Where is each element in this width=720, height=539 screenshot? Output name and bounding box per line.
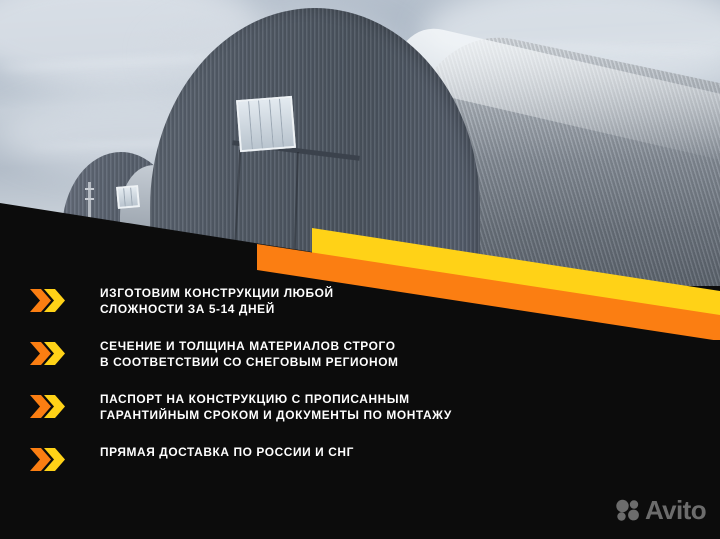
- list-item: ИЗГОТОВИМ КОНСТРУКЦИИ ЛЮБОЙ СЛОЖНОСТИ ЗА…: [30, 286, 650, 317]
- feature-label: СЕЧЕНИЕ И ТОЛЩИНА МАТЕРИАЛОВ СТРОГО В СО…: [100, 339, 399, 370]
- list-item: ПРЯМАЯ ДОСТАВКА ПО РОССИИ И СНГ: [30, 445, 650, 471]
- promo-banner: ИЗГОТОВИМ КОНСТРУКЦИИ ЛЮБОЙ СЛОЖНОСТИ ЗА…: [0, 0, 720, 539]
- feature-label: ИЗГОТОВИМ КОНСТРУКЦИИ ЛЮБОЙ СЛОЖНОСТИ ЗА…: [100, 286, 334, 317]
- feature-label: ПРЯМАЯ ДОСТАВКА ПО РОССИИ И СНГ: [100, 445, 354, 461]
- list-item: ПАСПОРТ НА КОНСТРУКЦИЮ С ПРОПИСАННЫМ ГАР…: [30, 392, 650, 423]
- double-chevron-icon: [30, 395, 66, 418]
- double-chevron-icon: [30, 342, 66, 365]
- avito-dots-icon: [615, 499, 641, 521]
- secondary-hangar-window: [116, 185, 140, 209]
- avito-watermark: Avito: [615, 497, 706, 523]
- avito-wordmark: Avito: [645, 497, 706, 523]
- antenna-mast: [88, 182, 91, 222]
- double-chevron-icon: [30, 289, 66, 312]
- feature-label: ПАСПОРТ НА КОНСТРУКЦИЮ С ПРОПИСАННЫМ ГАР…: [100, 392, 452, 423]
- hangar-window: [236, 96, 296, 152]
- double-chevron-icon: [30, 448, 66, 471]
- feature-list: ИЗГОТОВИМ КОНСТРУКЦИИ ЛЮБОЙ СЛОЖНОСТИ ЗА…: [30, 286, 650, 471]
- list-item: СЕЧЕНИЕ И ТОЛЩИНА МАТЕРИАЛОВ СТРОГО В СО…: [30, 339, 650, 370]
